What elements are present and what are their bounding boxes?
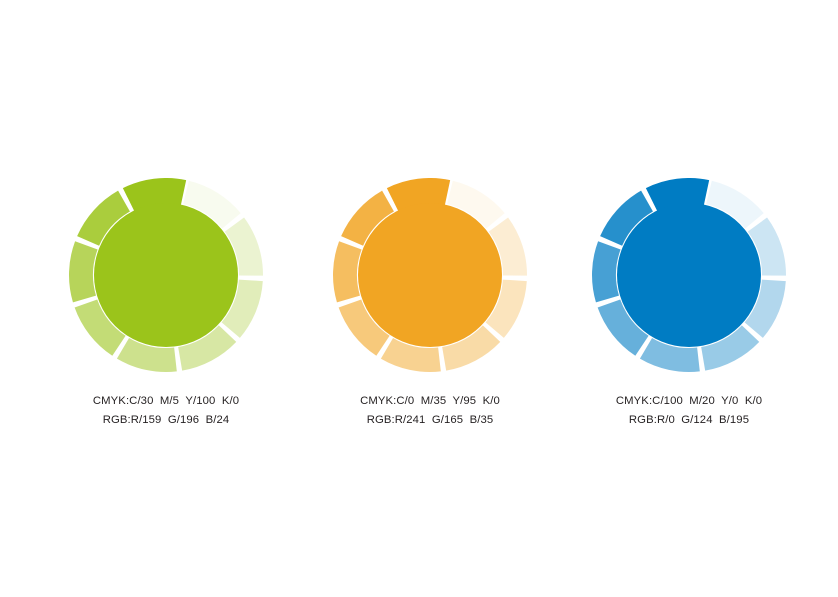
color-swatch-blue: CMYK:C/100 M/20 Y/0 K/0RGB:R/0 G/124 B/1… (559, 178, 819, 431)
rgb-value-label: RGB:R/241 G/165 B/35 (300, 411, 560, 430)
ring-segment (69, 241, 98, 302)
rgb-value-label: RGB:R/159 G/196 B/24 (36, 411, 296, 430)
color-wheel-orange (300, 178, 560, 374)
cmyk-value-label: CMYK:C/30 M/5 Y/100 K/0 (36, 392, 296, 411)
core-disc (94, 203, 238, 347)
color-wheel-graphic-green (36, 178, 296, 378)
color-wheel-blue (559, 178, 819, 374)
ring-segment (333, 241, 362, 302)
color-wheel-graphic-orange (300, 178, 560, 378)
color-wheel-graphic-blue (559, 178, 819, 378)
color-swatch-green: CMYK:C/30 M/5 Y/100 K/0RGB:R/159 G/196 B… (36, 178, 296, 431)
color-wheel-green (36, 178, 296, 374)
color-palette-board: CMYK:C/30 M/5 Y/100 K/0RGB:R/159 G/196 B… (0, 0, 838, 597)
color-spec-blue: CMYK:C/100 M/20 Y/0 K/0RGB:R/0 G/124 B/1… (559, 392, 819, 431)
rgb-value-label: RGB:R/0 G/124 B/195 (559, 411, 819, 430)
color-swatch-orange: CMYK:C/0 M/35 Y/95 K/0RGB:R/241 G/165 B/… (300, 178, 560, 431)
cmyk-value-label: CMYK:C/100 M/20 Y/0 K/0 (559, 392, 819, 411)
cmyk-value-label: CMYK:C/0 M/35 Y/95 K/0 (300, 392, 560, 411)
color-spec-green: CMYK:C/30 M/5 Y/100 K/0RGB:R/159 G/196 B… (36, 392, 296, 431)
core-disc (358, 203, 502, 347)
core-disc (617, 203, 761, 347)
color-spec-orange: CMYK:C/0 M/35 Y/95 K/0RGB:R/241 G/165 B/… (300, 392, 560, 431)
ring-segment (592, 241, 621, 302)
